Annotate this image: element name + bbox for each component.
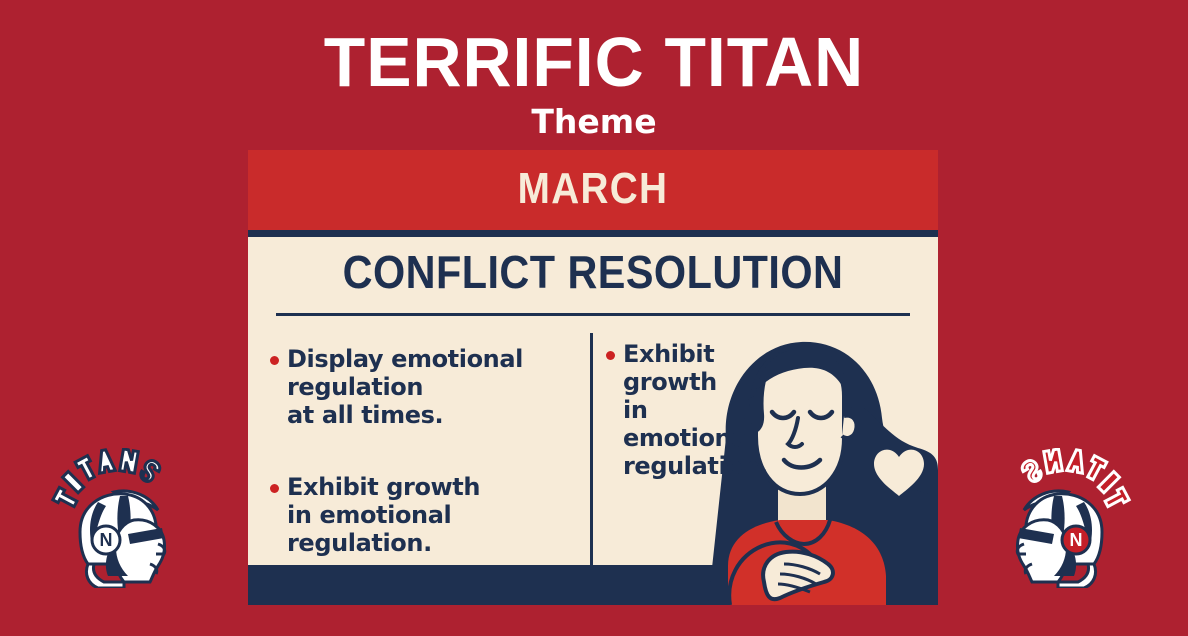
bullet-dot-icon	[606, 351, 615, 360]
month-banner: MARCH	[248, 150, 938, 230]
month-label: MARCH	[289, 164, 896, 214]
theme-card: MARCH CONFLICT RESOLUTION Display emotio…	[248, 150, 938, 605]
heart-icon	[874, 450, 924, 496]
bullet-dot-icon	[270, 356, 279, 365]
bullet-text: Exhibit growth in emotional regulation.	[623, 340, 768, 480]
title-divider	[276, 313, 910, 316]
titans-logo-left: N	[42, 448, 192, 588]
bullet-text: Exhibit growth in emotional regulation.	[287, 473, 580, 557]
page-title: TERRIFIC TITAN	[18, 26, 1170, 98]
header: TERRIFIC TITAN Theme	[0, 0, 1188, 150]
list-item: Exhibit growth in emotional regulation.	[270, 473, 580, 557]
helmet-letter: N	[100, 530, 113, 550]
bullet-column-right: Exhibit growth in emotional regulation.	[606, 340, 771, 498]
bullet-text: Display emotional regulation at all time…	[287, 345, 523, 429]
helmet-letter: N	[1070, 530, 1083, 550]
page-subtitle: Theme	[0, 104, 1188, 140]
list-item: Exhibit growth in emotional regulation.	[606, 340, 771, 480]
bullet-column-left: Display emotional regulation at all time…	[270, 345, 580, 575]
theme-title: CONFLICT RESOLUTION	[283, 245, 904, 299]
list-item: Display emotional regulation at all time…	[270, 345, 580, 429]
titans-logo-right: N	[990, 448, 1140, 588]
column-divider	[590, 333, 593, 568]
banner-divider	[248, 230, 938, 237]
bullet-dot-icon	[270, 484, 279, 493]
